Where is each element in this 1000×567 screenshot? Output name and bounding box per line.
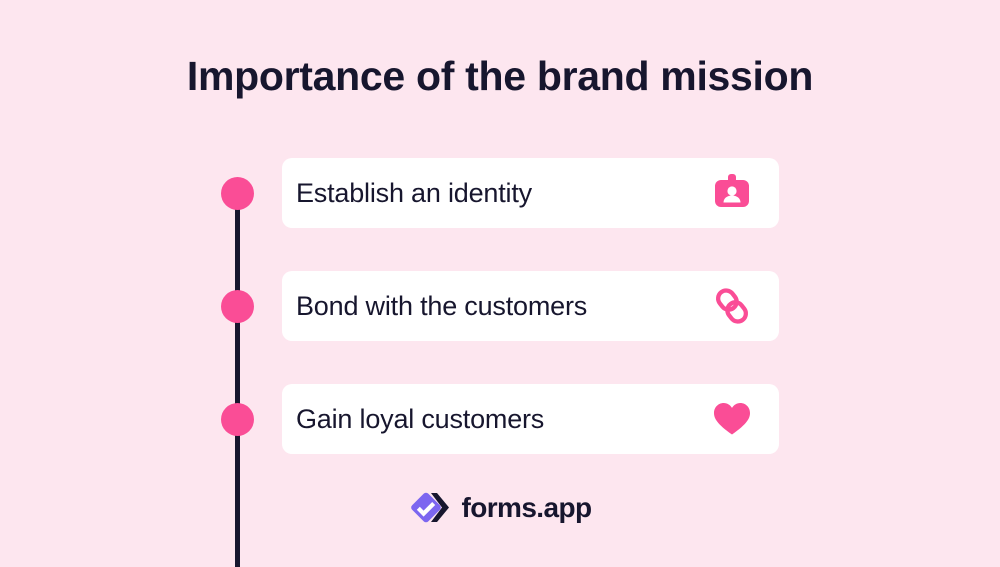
timeline-card-label: Establish an identity <box>296 178 532 209</box>
timeline-card-label: Gain loyal customers <box>296 404 544 435</box>
id-badge-icon <box>709 170 755 216</box>
heart-icon <box>709 396 755 442</box>
forms-app-logo: forms.app <box>0 487 1000 529</box>
timeline-dot-3 <box>221 403 254 436</box>
timeline-dot-2 <box>221 290 254 323</box>
timeline-card-label: Bond with the customers <box>296 291 587 322</box>
page-title: Importance of the brand mission <box>0 52 1000 101</box>
forms-app-logo-text: forms.app <box>462 494 592 522</box>
link-chain-icon <box>709 283 755 329</box>
timeline-card-gain-loyal-customers[interactable]: Gain loyal customers <box>282 384 779 454</box>
timeline-dot-1 <box>221 177 254 210</box>
timeline-card-establish-an-identity[interactable]: Establish an identity <box>282 158 779 228</box>
infographic-canvas: Importance of the brand mission Establis… <box>0 0 1000 567</box>
timeline-card-bond-with-the-customers[interactable]: Bond with the customers <box>282 271 779 341</box>
forms-app-logo-mark <box>409 487 451 529</box>
